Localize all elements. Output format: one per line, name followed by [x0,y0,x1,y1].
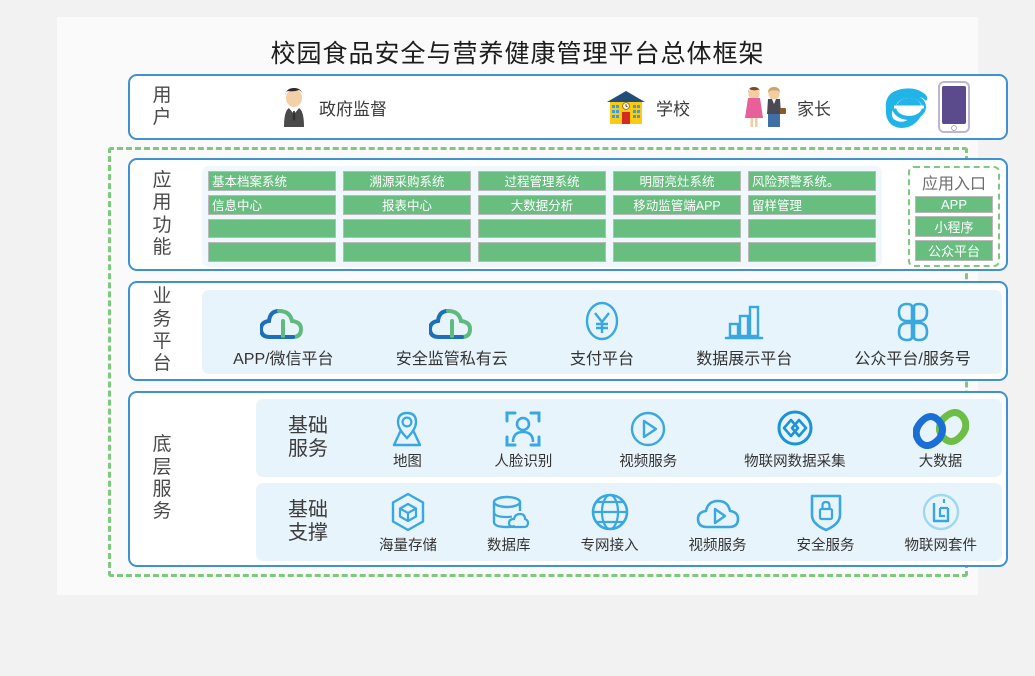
biz-label-char-3: 台 [152,353,171,375]
users-layer-panel: 用 户 政府监督 [128,74,1008,140]
basic-services-items: 地图 人脸识别 [354,399,1002,477]
biz-label: APP/微信平台 [233,345,333,369]
big-data-infinity-icon [913,409,969,449]
app-cell[interactable]: 大数据分析 [478,195,606,215]
app-functions-layer-label: 应 用 功 能 [140,160,184,269]
smartphone-icon [936,81,972,133]
bottom-services-layer-panel: 底 层 服 务 基础 服务 地图 [128,391,1008,567]
service-label: 人脸识别 [494,450,552,471]
service-label: 地图 [393,450,422,471]
database-icon [488,493,530,533]
cloud-play-icon [695,495,741,533]
bar-chart-icon [722,302,766,342]
business-platform-layer-label: 业 务 平 台 [140,283,184,379]
app-cell[interactable]: 留样管理 [748,195,876,215]
cloud-icon [260,304,306,342]
app-label-char-3: 能 [152,237,171,259]
user-school-label: 学校 [656,95,690,120]
support-label: 安全服务 [797,534,855,555]
app-cell[interactable] [208,242,336,262]
biz-label: 支付平台 [570,345,634,369]
biz-label: 公众平台/服务号 [854,345,970,369]
user-school[interactable]: 学校 [605,76,690,138]
basic-services-heading-line-1: 服务 [262,438,354,461]
business-platform-items: APP/微信平台 安全监管私有云 [202,290,1002,374]
basic-services-heading-line-0: 基础 [262,415,354,438]
support-security[interactable]: 安全服务 [797,491,855,555]
service-face-recognition[interactable]: 人脸识别 [494,409,552,471]
endpoint-mobile[interactable] [936,76,972,138]
cloud-icon [429,304,475,342]
basic-support-heading: 基础 支撑 [262,499,354,545]
biz-label: 安全监管私有云 [396,345,508,369]
iot-data-icon [774,407,816,449]
users-label-char-0: 用 [152,85,171,107]
entry-button-public-platform[interactable]: 公众平台 [915,240,993,261]
service-map[interactable]: 地图 [387,409,427,471]
app-entry-title: 应用入口 [922,170,986,194]
basic-support-heading-line-1: 支撑 [262,522,354,545]
app-cell[interactable] [478,219,606,239]
biz-item-payment[interactable]: 支付平台 [570,300,634,369]
bot-label-char-2: 服 [152,479,171,501]
app-entry-box: 应用入口 APP 小程序 公众平台 [908,166,1000,267]
support-mass-storage[interactable]: 海量存储 [379,491,437,555]
app-functions-grid: 基本档案系统 溯源采购系统 过程管理系统 明厨亮灶系统 风险预警系统。 信息中心… [202,166,882,267]
service-iot-data[interactable]: 物联网数据采集 [744,407,846,471]
yen-circle-icon [581,300,623,342]
businessman-icon [278,87,310,127]
endpoint-ie[interactable] [882,76,932,138]
service-big-data[interactable]: 大数据 [913,409,969,471]
bot-label-char-3: 务 [152,501,171,523]
users-label-char-1: 户 [152,107,171,129]
app-label-char-1: 用 [152,192,171,214]
entry-button-app[interactable]: APP [915,196,993,213]
biz-label: 数据展示平台 [696,345,792,369]
school-icon [605,88,647,126]
support-label: 数据库 [487,534,531,555]
biz-item-public-service[interactable]: 公众平台/服务号 [854,302,970,369]
bottom-services-layer-label: 底 层 服 务 [140,393,184,565]
app-cell[interactable]: 明厨亮灶系统 [613,171,741,191]
basic-support-heading-line-0: 基础 [262,499,354,522]
app-cell[interactable] [208,219,336,239]
app-cell[interactable] [613,242,741,262]
app-cell[interactable]: 报表中心 [343,195,471,215]
user-parents-label: 家长 [797,95,831,120]
service-video[interactable]: 视频服务 [619,409,677,471]
app-functions-layer-panel: 应 用 功 能 基本档案系统 溯源采购系统 过程管理系统 明厨亮灶系统 风险预警… [128,158,1008,271]
biz-item-private-cloud[interactable]: 安全监管私有云 [396,304,508,369]
biz-label-char-0: 业 [152,286,171,308]
app-cell[interactable] [748,219,876,239]
service-label: 视频服务 [619,450,677,471]
bot-label-char-0: 底 [152,434,171,456]
iot-kit-icon [920,491,962,533]
basic-services-group: 基础 服务 地图 [256,399,1002,477]
basic-support-group: 基础 支撑 海量存储 [256,483,1002,561]
app-cell[interactable]: 基本档案系统 [208,171,336,191]
globe-icon [589,491,631,533]
business-platform-layer-panel: 业 务 平 台 APP/微信平台 [128,281,1008,381]
users-layer-label: 用 户 [140,76,184,138]
user-government-label: 政府监督 [319,95,387,120]
support-label: 视频服务 [689,534,747,555]
app-cell[interactable]: 风险预警系统。 [748,171,876,191]
parents-icon [740,86,788,128]
face-recognition-icon [503,409,543,449]
map-pin-icon [387,409,427,449]
support-video[interactable]: 视频服务 [689,495,747,555]
user-government[interactable]: 政府监督 [278,76,387,138]
app-cell[interactable]: 信息中心 [208,195,336,215]
app-label-char-2: 功 [152,215,171,237]
support-label: 海量存储 [379,534,437,555]
user-parents[interactable]: 家长 [740,76,831,138]
basic-support-items: 海量存储 数据库 [354,483,1002,561]
app-cell[interactable] [343,242,471,262]
page-title: 校园食品安全与营养健康管理平台总体框架 [57,34,978,70]
app-cell[interactable]: 溯源采购系统 [343,171,471,191]
app-cell[interactable] [343,219,471,239]
support-label: 专网接入 [581,534,639,555]
biz-label-char-2: 平 [152,331,171,353]
play-circle-icon [628,409,668,449]
app-cell[interactable] [613,219,741,239]
biz-label-char-1: 务 [152,309,171,331]
app-cell[interactable]: 移动监管端APP [613,195,741,215]
clover-icon [891,302,935,342]
support-label: 物联网套件 [905,534,978,555]
biz-item-data-display[interactable]: 数据展示平台 [696,302,792,369]
internet-explorer-icon [882,84,932,130]
app-cell[interactable] [748,242,876,262]
service-label: 物联网数据采集 [744,450,846,471]
biz-item-app-wechat[interactable]: APP/微信平台 [233,304,333,369]
support-private-network[interactable]: 专网接入 [581,491,639,555]
support-database[interactable]: 数据库 [487,493,531,555]
shield-lock-icon [807,491,845,533]
hex-cube-icon [388,491,428,533]
app-cell[interactable]: 过程管理系统 [478,171,606,191]
diagram-canvas: 校园食品安全与营养健康管理平台总体框架 用 户 政府监督 [57,17,978,595]
basic-services-heading: 基础 服务 [262,415,354,461]
bot-label-char-1: 层 [152,457,171,479]
support-iot-kit[interactable]: 物联网套件 [905,491,978,555]
app-cell[interactable] [478,242,606,262]
entry-button-miniprogram[interactable]: 小程序 [915,216,993,237]
app-label-char-0: 应 [152,170,171,192]
service-label: 大数据 [919,450,963,471]
